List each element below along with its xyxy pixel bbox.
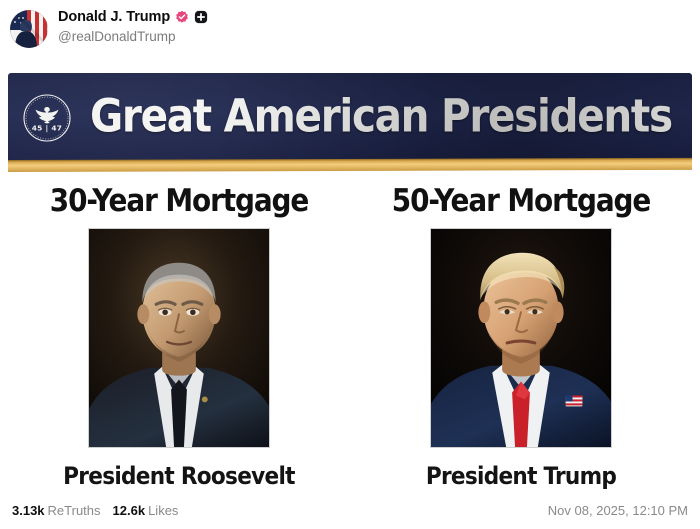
column-heading-left: 30-Year Mortgage: [8, 183, 350, 219]
portrait-caption-right: President Trump: [350, 462, 692, 490]
portrait-cell-right: [350, 228, 692, 448]
roosevelt-portrait: [88, 228, 270, 448]
likes-count: 12.6k: [113, 503, 146, 518]
author-identity: Donald J. Trump @realDonaldTrump: [58, 9, 208, 44]
avatar[interactable]: [10, 10, 48, 48]
post-media-image[interactable]: 45 | 47 Great American Presidents 30-Yea…: [8, 70, 692, 492]
post-timestamp: Nov 08, 2025, 12:10 PM: [548, 503, 688, 518]
truth-social-post: Donald J. Trump @realDonaldTrump: [0, 0, 700, 529]
author-handle[interactable]: @realDonaldTrump: [58, 29, 208, 44]
verified-check-badge-icon: [175, 10, 189, 24]
retruths-label: ReTruths: [48, 503, 101, 518]
author-display-name[interactable]: Donald J. Trump: [58, 10, 170, 25]
likes-stat[interactable]: 12.6kLikes: [113, 503, 179, 518]
retruths-stat[interactable]: 3.13kReTruths: [12, 503, 101, 518]
presidential-eagle-seal-icon: 45 | 47: [22, 93, 72, 143]
name-row: Donald J. Trump: [58, 10, 208, 25]
trump-portrait: [430, 228, 612, 448]
banner-title: Great American Presidents: [90, 89, 672, 142]
post-footer: 3.13kReTruths 12.6kLikes Nov 08, 2025, 1…: [0, 492, 700, 529]
portrait-row: [8, 228, 692, 448]
column-headings: 30-Year Mortgage 50-Year Mortgage: [8, 183, 692, 219]
portrait-captions: President Roosevelt President Trump: [8, 462, 692, 490]
column-heading-right: 50-Year Mortgage: [350, 183, 692, 219]
banner-gold-accent-strip: [8, 158, 692, 172]
portrait-caption-left: President Roosevelt: [8, 462, 350, 490]
svg-text:45 | 47: 45 | 47: [32, 124, 63, 134]
banner: 45 | 47 Great American Presidents: [8, 73, 692, 161]
engagement-stats: 3.13kReTruths 12.6kLikes: [12, 503, 178, 518]
plus-badge-icon: [194, 10, 208, 24]
portrait-cell-left: [8, 228, 350, 448]
post-header: Donald J. Trump @realDonaldTrump: [0, 0, 700, 56]
likes-label: Likes: [148, 503, 178, 518]
retruths-count: 3.13k: [12, 503, 45, 518]
